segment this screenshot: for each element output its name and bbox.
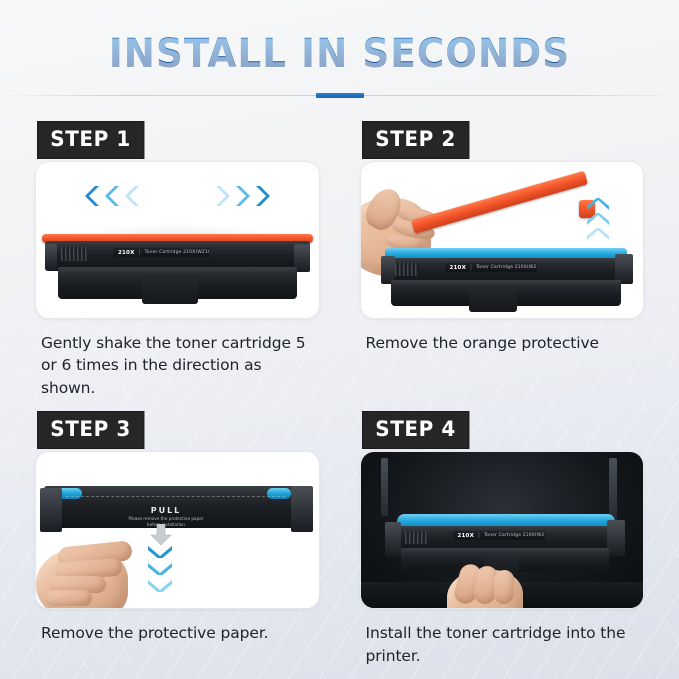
toner-label: 210X | Toner Cartridge 210X(W2100X) (K) <box>453 531 545 540</box>
step-2-scene: 210X | Toner Cartridge 210X(W2100X) (K) <box>361 162 644 318</box>
steps-grid: STEP 1 <box>0 121 679 667</box>
chevron-up-icon <box>585 198 611 212</box>
toner-label-description: Toner Cartridge 210X(W2100X) (K) <box>476 265 536 270</box>
toner-label-sku: 210X <box>458 533 475 539</box>
step-2: STEP 2 <box>360 121 645 399</box>
toner-vents <box>395 263 419 276</box>
shake-left-arrows <box>84 184 142 208</box>
toner-label-separator: | <box>478 532 480 539</box>
chevron-down-icon <box>146 561 174 575</box>
pull-label-main: PULL <box>124 506 208 515</box>
chevron-right-icon <box>253 184 271 208</box>
step-4-image: 210X | Toner Cartridge 210X(W2100X) (K) <box>360 451 645 609</box>
toner-endcap-left <box>45 244 57 270</box>
title-divider <box>0 93 679 99</box>
toner-label-description: Toner Cartridge 210X(W2100X) (K) <box>484 533 544 538</box>
finger-pinky <box>46 590 92 606</box>
pull-down-arrows <box>146 544 174 592</box>
chevron-down-icon <box>146 578 174 592</box>
step-4: STEP 4 210X | Toner Cart <box>360 411 645 667</box>
finger-ring <box>493 570 514 605</box>
step-2-image: 210X | Toner Cartridge 210X(W2100X) (K) <box>360 161 645 319</box>
cyan-roller-right <box>267 488 291 499</box>
printer-rail-right <box>609 458 617 520</box>
toner-endcap-left <box>40 488 62 532</box>
step-3-scene: PULL Please remove the protective paper … <box>36 452 319 608</box>
toner-label: 210X | Toner Cartridge 210X(W2100X) (K) <box>113 248 209 257</box>
chevron-left-icon <box>124 184 142 208</box>
toner-label-sku: 210X <box>118 250 135 256</box>
step-3-badge: STEP 3 <box>37 411 144 449</box>
chevron-up-icon <box>585 228 611 242</box>
chevron-left-icon <box>104 184 122 208</box>
chevron-right-icon <box>213 184 231 208</box>
printer-rail-left <box>381 458 388 516</box>
step-1-caption: Gently shake the toner cartridge 5 or 6 … <box>35 332 320 399</box>
step-3-caption: Remove the protective paper. <box>35 622 320 644</box>
toner-endcap-left <box>385 522 401 556</box>
printer-interior: 210X | Toner Cartridge 210X(W2100X) (K) <box>361 452 644 608</box>
toner-handle <box>469 288 517 312</box>
infographic-page: INSTALL IN SECONDS STEP 1 <box>0 0 679 679</box>
toner-vents <box>61 247 87 261</box>
chevron-right-icon <box>233 184 251 208</box>
toner-endcap-right <box>291 486 313 532</box>
step-1-badge: STEP 1 <box>37 121 144 159</box>
step-1: STEP 1 <box>35 121 320 399</box>
step-1-scene: 210X | Toner Cartridge 210X(W2100X) (K) <box>36 162 319 318</box>
arrow-down-icon <box>149 524 173 546</box>
toner-vents <box>405 531 427 544</box>
chevron-down-icon <box>146 544 174 558</box>
step-1-image: 210X | Toner Cartridge 210X(W2100X) (K) <box>35 161 320 319</box>
toner-label-separator: | <box>470 264 472 271</box>
toner-handle <box>142 276 198 304</box>
orange-protective-strip <box>411 171 588 234</box>
pull-up-arrows <box>585 198 611 242</box>
toner-label-separator: | <box>139 249 141 256</box>
toner-label-sku: 210X <box>450 265 467 271</box>
step-4-badge: STEP 4 <box>362 411 469 449</box>
page-title: INSTALL IN SECONDS <box>24 34 655 74</box>
step-4-caption: Install the toner cartridge into the pri… <box>360 622 645 667</box>
step-2-badge: STEP 2 <box>362 121 469 159</box>
toner-label-description: Toner Cartridge 210X(W2100X) (K) <box>145 250 209 255</box>
divider-accent-bar <box>316 93 364 98</box>
chevron-up-icon <box>585 213 611 227</box>
page-header: INSTALL IN SECONDS <box>0 0 679 99</box>
toner-label: 210X | Toner Cartridge 210X(W2100X) (K) <box>445 263 537 272</box>
chevron-left-icon <box>84 184 102 208</box>
step-3: STEP 3 PULL Please remove the protective… <box>35 411 320 667</box>
toner-endcap-right <box>607 520 625 556</box>
paper-perforation <box>66 496 285 497</box>
shake-right-arrows <box>213 184 271 208</box>
step-2-caption: Remove the orange protective <box>360 332 645 354</box>
step-3-image: PULL Please remove the protective paper … <box>35 451 320 609</box>
